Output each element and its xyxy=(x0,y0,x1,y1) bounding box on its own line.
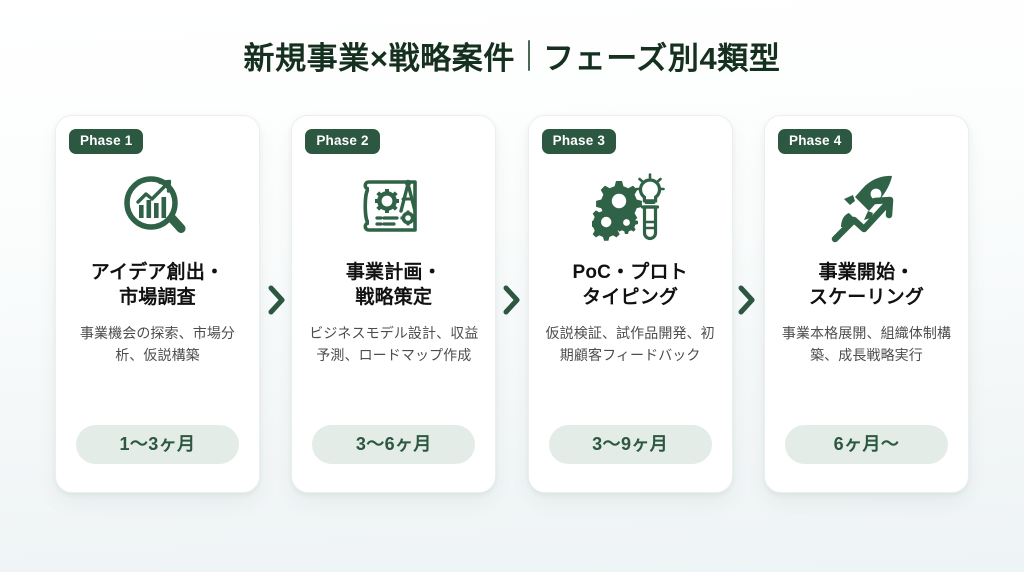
page-title: 新規事業×戦略案件 フェーズ別4類型 xyxy=(0,0,1024,78)
phase-card-title-4: 事業開始・ スケーリング xyxy=(809,260,924,310)
title-sub-text: フェーズ別4類型 xyxy=(543,33,781,78)
phase-card-3[interactable]: Phase 3 xyxy=(528,115,733,493)
phase-card-title-1-line2: 市場調査 xyxy=(91,285,224,310)
phase-card-description-1: 事業機会の探索、市場分析、仮説構築 xyxy=(69,322,246,367)
phase-badge-1: Phase 1 xyxy=(69,129,143,154)
gears-lightbulb-testtube-icon xyxy=(592,168,668,248)
phase-card-title-2: 事業計画・ 戦略策定 xyxy=(346,260,442,310)
blueprint-gear-compass-icon xyxy=(357,168,431,248)
phase-card-2[interactable]: Phase 2 xyxy=(291,115,496,493)
title-divider xyxy=(528,40,530,71)
magnifier-bar-chart-growth-icon xyxy=(119,168,197,248)
chevron-right-icon-1 xyxy=(262,278,292,322)
phase-card-title-3-line2: タイピング xyxy=(572,285,687,310)
phase-duration-pill-4: 6ヶ月〜 xyxy=(785,425,948,464)
phase-duration-pill-3: 3〜9ヶ月 xyxy=(549,425,712,464)
phase-badge-2: Phase 2 xyxy=(305,129,379,154)
title-row: 新規事業×戦略案件 フェーズ別4類型 xyxy=(243,33,780,78)
phase-card-title-2-line2: 戦略策定 xyxy=(346,285,442,310)
slide-root: 新規事業×戦略案件 フェーズ別4類型 Phase 1 xyxy=(0,0,1024,572)
phase-duration-pill-2: 3〜6ヶ月 xyxy=(312,425,475,464)
phase-card-title-1: アイデア創出・ 市場調査 xyxy=(91,260,224,310)
phase-card-description-4: 事業本格展開、組織体制構築、成長戦略実行 xyxy=(778,322,955,367)
phase-card-4[interactable]: Phase 4 事業開始・ スケーリング 事業本格展開、組織体制構築、成長戦略実… xyxy=(764,115,969,493)
phase-card-title-1-line1: アイデア創出・ xyxy=(91,260,224,285)
phase-duration-pill-1: 1〜3ヶ月 xyxy=(76,425,239,464)
chevron-right-icon-2 xyxy=(497,278,527,322)
phase-card-description-2: ビジネスモデル設計、収益予測、ロードマップ作成 xyxy=(305,322,482,367)
phase-card-description-3: 仮説検証、試作品開発、初期顧客フィードバック xyxy=(542,322,719,367)
phase-card-title-4-line2: スケーリング xyxy=(809,285,924,310)
rocket-growth-arrow-icon xyxy=(828,168,904,248)
chevron-right-icon-3 xyxy=(732,278,762,322)
phase-card-1[interactable]: Phase 1 アイデア創出・ 市場調査 事業機会の探索、市場分析、仮説構築 xyxy=(55,115,260,493)
phase-card-title-3-line1: PoC・プロト xyxy=(572,260,687,285)
phase-badge-3: Phase 3 xyxy=(542,129,616,154)
phase-card-title-2-line1: 事業計画・ xyxy=(346,260,442,285)
phase-card-title-3: PoC・プロト タイピング xyxy=(572,260,687,310)
phase-card-title-4-line1: 事業開始・ xyxy=(809,260,924,285)
phase-badge-4: Phase 4 xyxy=(778,129,852,154)
title-main-text: 新規事業×戦略案件 xyxy=(243,33,515,78)
